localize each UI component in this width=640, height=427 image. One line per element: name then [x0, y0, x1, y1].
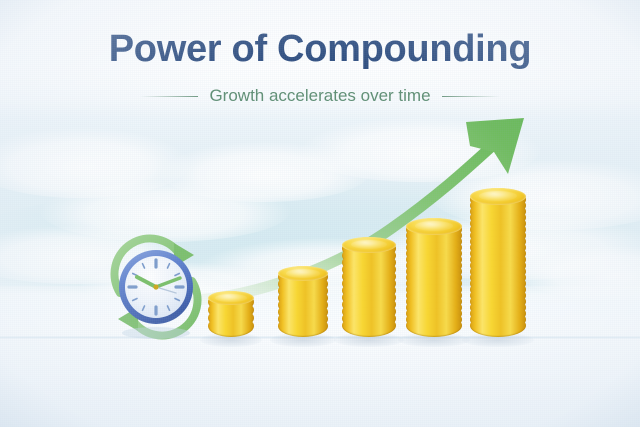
page-title: Power of Compounding — [0, 28, 640, 71]
subtitle-rule-right — [442, 96, 500, 97]
time-clock — [88, 227, 220, 345]
page-subtitle: Growth accelerates over time — [209, 86, 430, 106]
coin-top-face — [470, 188, 526, 205]
subtitle-row: Growth accelerates over time — [0, 86, 640, 106]
coin-top-face — [208, 291, 254, 305]
coin — [342, 314, 396, 337]
coin-top-face — [406, 218, 462, 235]
coin-top-face — [342, 237, 396, 253]
coin — [470, 314, 526, 337]
coin — [406, 314, 462, 337]
poster-header: Power of Compounding Growth accelerates … — [0, 0, 640, 118]
coin — [278, 315, 328, 337]
coin-top-face — [278, 266, 328, 281]
poster-canvas: Power of Compounding Growth accelerates … — [0, 0, 640, 427]
subtitle-rule-left — [140, 96, 198, 97]
coin — [208, 315, 254, 337]
